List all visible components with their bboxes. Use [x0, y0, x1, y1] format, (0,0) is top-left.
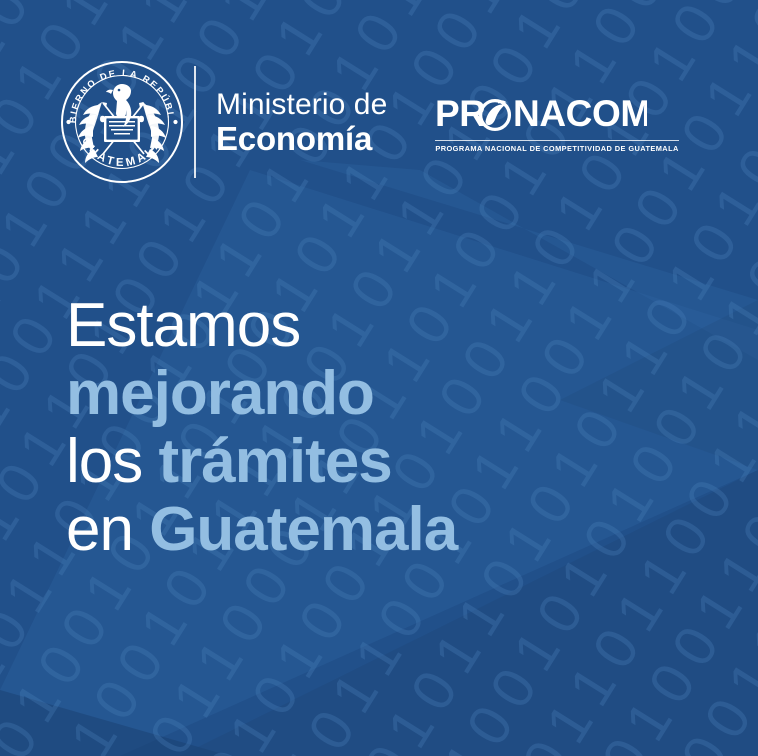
ministry-line-2: Economía: [216, 122, 387, 155]
binary-digit: 1: [202, 226, 274, 288]
binary-digit: 0: [34, 744, 106, 756]
binary-digit: 1: [128, 594, 200, 656]
binary-digit: 0: [631, 287, 703, 349]
binary-digit: 1: [748, 100, 758, 162]
binary-digit: 0: [48, 597, 120, 659]
binary-digit: 1: [445, 585, 517, 647]
binary-digit: 0: [286, 590, 358, 652]
binary-digit: 1: [216, 702, 288, 756]
binary-digit: 0: [104, 632, 176, 694]
headline-word: Estamos: [66, 291, 300, 360]
binary-digit: 0: [137, 704, 209, 756]
binary-digit: 1: [0, 746, 27, 756]
binary-digit: 1: [753, 466, 758, 528]
binary-digit: 1: [0, 196, 60, 258]
binary-digit: 0: [0, 343, 46, 405]
binary-digit: 0: [351, 734, 423, 756]
binary-digit: 0: [589, 727, 661, 756]
binary-digit: 1: [184, 629, 256, 691]
binary-digit: 1: [683, 578, 755, 640]
binary-digit: 1: [375, 697, 447, 756]
binary-digit: 1: [715, 28, 758, 90]
binary-digit: 1: [715, 650, 758, 712]
binary-digit: 0: [580, 618, 652, 680]
binary-digit: 1: [48, 0, 120, 36]
page-title: Estamos mejorando los trámites en Guatem…: [66, 292, 457, 564]
headline-line-1: Estamos: [66, 292, 457, 360]
binary-digit: 1: [0, 380, 23, 442]
binary-digit: 0: [725, 137, 758, 199]
binary-digit: 1: [692, 65, 758, 127]
binary-digit: 0: [440, 219, 512, 281]
binary-digit: 1: [603, 580, 675, 642]
binary-digit: 0: [673, 468, 745, 530]
binary-digit: 0: [678, 212, 750, 274]
binary-digit: 0: [729, 503, 758, 565]
headline-word: Guatemala: [149, 495, 457, 564]
binary-digit: 1: [361, 221, 433, 283]
binary-digit: 1: [0, 14, 18, 76]
binary-digit: 1: [365, 0, 437, 27]
binary-digit: 0: [748, 723, 758, 756]
binary-digit: 0: [207, 592, 279, 654]
binary-digit: 1: [0, 270, 13, 332]
binary-digit: 0: [0, 709, 51, 756]
binary-digit: 1: [0, 636, 18, 698]
binary-digit: 1: [2, 671, 74, 733]
binary-digit: 1: [0, 562, 65, 624]
pronacom-logo: PR NACOM PROGRAMA NACIONAL DE COMPETITIV…: [435, 95, 678, 152]
binary-digit: 0: [571, 508, 643, 570]
binary-digit: 1: [445, 0, 517, 24]
binary-digit: 1: [739, 613, 758, 675]
headline-word: los: [66, 427, 142, 496]
binary-digit: 0: [650, 506, 722, 568]
binary-digit: 1: [263, 627, 335, 689]
binary-digit: 0: [0, 0, 41, 38]
shape-dark-right: [560, 300, 758, 470]
binary-digit: 0: [669, 102, 741, 164]
binary-digit: 0: [734, 247, 758, 309]
ministry-logotype: Ministerio de Economía: [216, 90, 387, 155]
binary-digit: 1: [482, 401, 554, 463]
headline-word: trámites: [159, 427, 392, 496]
binary-digit: 0: [524, 583, 596, 645]
binary-digit: 0: [687, 322, 758, 384]
binary-digit: 0: [0, 233, 37, 295]
binary-digit: 0: [398, 660, 470, 722]
binary-digit: 0: [0, 452, 55, 514]
binary-digit: 1: [0, 123, 27, 185]
binary-digit: 1: [473, 291, 545, 353]
binary-digit: 1: [0, 490, 32, 552]
binary-digit: 1: [128, 0, 200, 34]
binary-digit: 0: [743, 357, 758, 419]
binary-digit: 1: [491, 510, 563, 572]
binary-digit: 0: [561, 399, 633, 461]
binary-digit: 1: [552, 289, 624, 351]
binary-digit: 1: [594, 471, 666, 533]
binary-digit: 0: [296, 699, 368, 756]
binary-digit: 0: [524, 0, 596, 22]
binary-digit: 0: [529, 326, 601, 388]
binary-digit: 0: [123, 228, 195, 290]
binary-digit: 0: [281, 224, 353, 286]
binary-digit: 0: [683, 0, 755, 17]
headline-line-2: mejorando: [66, 360, 457, 428]
binary-digit: 0: [617, 434, 689, 496]
binary-digit: 1: [720, 394, 758, 456]
binary-digit: 1: [575, 252, 647, 314]
header-divider: [194, 66, 196, 178]
binary-digit: 0: [692, 688, 758, 750]
binary-digit: 1: [342, 625, 414, 687]
pronacom-wordmark-before: PR: [435, 95, 486, 134]
headline-line-3: los trámites: [66, 428, 457, 496]
binary-digit: 0: [0, 86, 51, 148]
binary-digit: 0: [81, 669, 153, 731]
binary-digit: 1: [655, 249, 727, 311]
binary-digit: 1: [496, 254, 568, 316]
binary-digit: 0: [641, 396, 713, 458]
pronacom-wordmark-after: NACOM: [513, 95, 647, 134]
binary-digit: 1: [557, 655, 629, 717]
binary-digit: 0: [454, 695, 526, 756]
binary-digit: 0: [603, 0, 675, 20]
binary-digit: 1: [272, 737, 344, 756]
binary-digit: 1: [305, 186, 377, 248]
binary-digit: 1: [67, 193, 139, 255]
pronacom-tagline: PROGRAMA NACIONAL DE COMPETITIVIDAD DE G…: [435, 145, 678, 152]
binary-digit: 0: [659, 0, 731, 55]
binary-digit: 1: [44, 231, 116, 293]
binary-digit: 1: [501, 0, 573, 59]
binary-digit: 0: [240, 664, 312, 726]
binary-digit: 1: [0, 0, 64, 1]
shape-dark-lower-left: [0, 690, 230, 756]
binary-digit: 0: [739, 0, 758, 52]
binary-digit: 1: [613, 690, 685, 752]
binary-digit: 1: [207, 0, 279, 31]
binary-digit: 1: [585, 361, 657, 423]
headline-line-4: en Guatemala: [66, 496, 457, 564]
ministry-line-1: Ministerio de: [216, 90, 387, 120]
binary-digit: 0: [659, 615, 731, 677]
binary-digit: 1: [501, 620, 573, 682]
binary-digit: 0: [580, 0, 652, 57]
headline-word: mejorando: [66, 359, 374, 428]
pronacom-wordmark: PR NACOM: [435, 95, 647, 135]
binary-digit: 1: [533, 692, 605, 754]
binary-digit: 1: [697, 431, 758, 493]
binary-digit: 1: [706, 541, 758, 603]
binary-digit: 0: [25, 634, 97, 696]
binary-digit: 1: [711, 284, 758, 346]
binary-digit: 0: [477, 657, 549, 719]
binary-digit: 1: [146, 191, 218, 253]
binary-digit: 1: [547, 545, 619, 607]
binary-digit: 0: [468, 548, 540, 610]
binary-digit: 1: [627, 543, 699, 605]
binary-digit: 1: [319, 662, 391, 724]
binary-digit: 1: [160, 667, 232, 729]
binary-digit: 0: [636, 653, 708, 715]
binary-digit: 1: [664, 359, 736, 421]
binary-digit: 1: [114, 741, 186, 756]
binary-digit: 0: [519, 217, 591, 279]
binary-digit: 0: [151, 557, 223, 619]
binary-digit: 1: [72, 559, 144, 621]
headline-word: en: [66, 495, 133, 564]
pronacom-rule: [435, 140, 678, 141]
binary-digit: 1: [58, 706, 130, 756]
binary-digit: 0: [365, 587, 437, 649]
guatemala-coat-of-arms-icon: GOBIERNO DE LA REPÚBLICA GUATEMALA: [58, 58, 186, 186]
binary-digit: 0: [0, 599, 41, 661]
binary-digit: 1: [538, 436, 610, 498]
brand-header: GOBIERNO DE LA REPÚBLICA GUATEMALA: [58, 52, 678, 192]
binary-digit: 1: [384, 184, 456, 246]
binary-digit: 0: [669, 725, 741, 756]
binary-digit: 0: [0, 527, 9, 589]
binary-digit: 1: [431, 732, 503, 756]
binary-digit: 0: [505, 364, 577, 426]
binary-digit: 0: [510, 730, 582, 756]
binary-digit: 1: [701, 175, 758, 237]
binary-digit: 0: [0, 305, 69, 367]
binary-digit: 0: [193, 739, 265, 756]
poster-canvas: 1001011010011010100101101001110100101101…: [0, 0, 758, 756]
binary-digit: 0: [225, 189, 297, 251]
binary-digit: 1: [459, 438, 531, 500]
binary-digit: 0: [286, 0, 358, 29]
binary-digit: 1: [421, 622, 493, 684]
binary-digit: 0: [599, 214, 671, 276]
binary-digit: 1: [0, 161, 4, 223]
binary-digit: 0: [230, 555, 302, 617]
binary-digit: 0: [449, 329, 521, 391]
binary-digit: 0: [515, 473, 587, 535]
binary-digit: 1: [608, 324, 680, 386]
